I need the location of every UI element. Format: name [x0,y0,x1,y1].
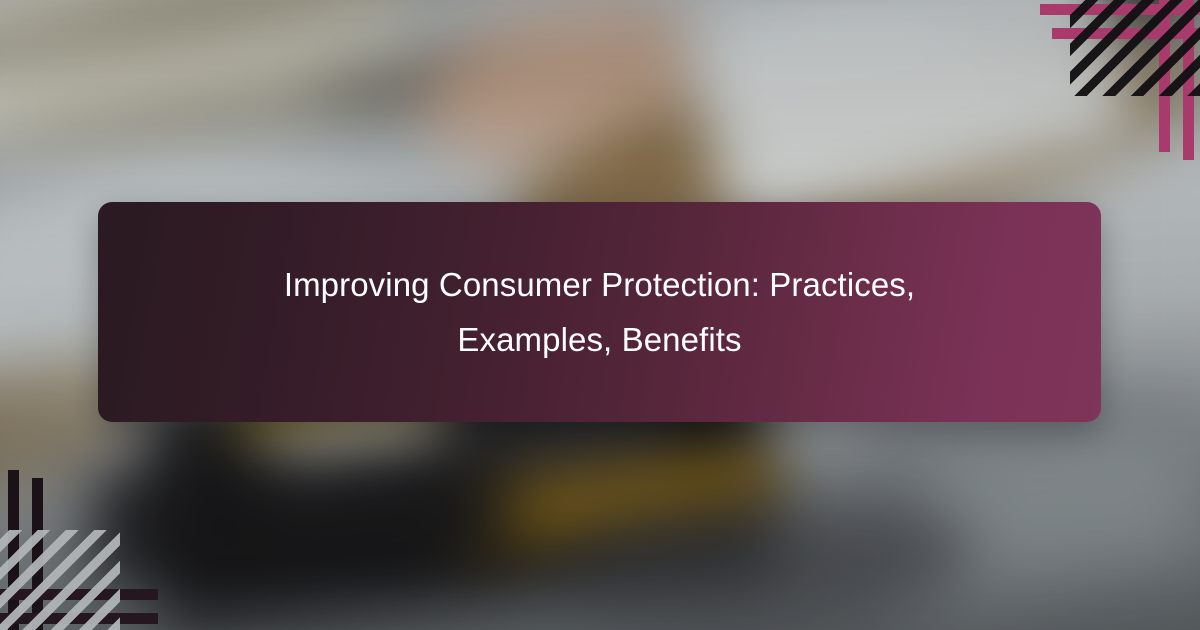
title-banner: Improving Consumer Protection: Practices… [98,202,1101,422]
social-share-card: Improving Consumer Protection: Practices… [0,0,1200,630]
page-title: Improving Consumer Protection: Practices… [150,257,1050,368]
